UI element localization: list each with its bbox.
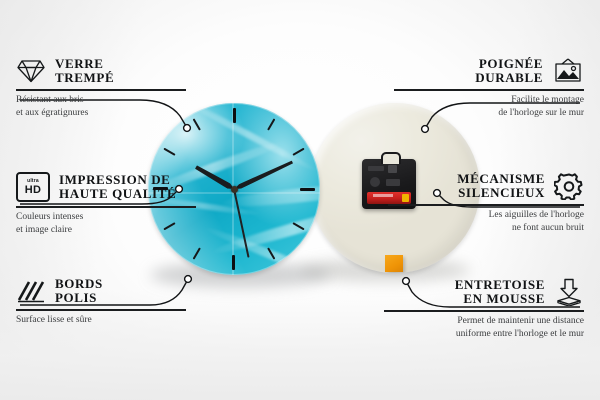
clock-tick — [233, 103, 235, 189]
foam-spacer — [385, 255, 403, 272]
feature-mecanisme-silencieux: MÉCANISME SILENCIEUX Les aiguilles de l'… — [388, 172, 584, 234]
feature-divider — [16, 89, 186, 91]
feature-subtitle-line: Les aiguilles de l'horloge — [388, 209, 584, 222]
feature-title-line: EN MOUSSE — [463, 292, 545, 306]
feature-subtitle-line: Résistant aux bris — [16, 94, 186, 107]
movement-hanger-tab — [381, 152, 401, 164]
feature-verre-trempe: VERRE TREMPÉ Résistant aux bris et aux é… — [16, 57, 186, 119]
feature-title-line: POLIS — [55, 291, 103, 305]
feature-entretoise-en-mousse: ENTRETOISE EN MOUSSE Permet de maintenir… — [384, 278, 584, 340]
feature-title-line: TREMPÉ — [55, 71, 114, 85]
feature-subtitle-line: et image claire — [16, 224, 196, 237]
feature-title-line: BORDS — [55, 277, 103, 291]
clock-tick — [233, 189, 235, 275]
foam-spacer-icon — [554, 278, 584, 306]
movement-detail — [368, 166, 384, 171]
feature-title-line: SILENCIEUX — [458, 186, 545, 200]
ultra-hd-badge-icon: ultra HD — [16, 172, 50, 202]
feature-subtitle-line: Surface lisse et sûre — [16, 314, 186, 327]
ultra-hd-badge-main-text: HD — [25, 185, 42, 196]
polished-edges-icon — [16, 278, 46, 304]
feature-subtitle-line: ne font aucun bruit — [388, 222, 584, 235]
feature-title-line: IMPRESSION DE — [59, 173, 176, 187]
feature-divider — [388, 204, 584, 206]
feature-subtitle-line: Couleurs intenses — [16, 211, 196, 224]
feature-divider — [384, 310, 584, 312]
feature-subtitle-line: uniforme entre l'horloge et le mur — [384, 328, 584, 341]
gear-icon — [554, 172, 584, 200]
feature-subtitle-line: et aux égratignures — [16, 107, 186, 120]
feature-title-line: ENTRETOISE — [455, 278, 545, 292]
clock-center-cap — [231, 186, 238, 193]
movement-detail — [370, 177, 380, 187]
feature-bords-polis: BORDS POLIS Surface lisse et sûre — [16, 277, 186, 327]
infographic-canvas: VERRE TREMPÉ Résistant aux bris et aux é… — [0, 0, 600, 400]
feature-divider — [16, 206, 196, 208]
feature-impression-haute-qualite: ultra HD IMPRESSION DE HAUTE QUALITÉ Cou… — [16, 172, 196, 236]
feature-title-line: MÉCANISME — [457, 172, 545, 186]
clock-tick — [234, 188, 320, 190]
feature-subtitle-line: Facilite le montage — [394, 94, 584, 107]
feature-divider — [394, 89, 584, 91]
feature-title-line: POIGNÉE — [479, 57, 543, 71]
feature-subtitle-line: Permet de maintenir une distance — [384, 315, 584, 328]
picture-hanger-icon — [552, 58, 584, 85]
feature-title-line: HAUTE QUALITÉ — [59, 187, 176, 201]
feature-poignee-durable: POIGNÉE DURABLE Facilite le montage de l… — [394, 57, 584, 119]
diamond-icon — [16, 58, 46, 84]
feature-title-line: DURABLE — [475, 71, 543, 85]
feature-subtitle-line: de l'horloge sur le mur — [394, 107, 584, 120]
feature-divider — [16, 309, 186, 311]
ultra-hd-badge-top-text: ultra — [27, 179, 39, 184]
feature-title-line: VERRE — [55, 57, 114, 71]
